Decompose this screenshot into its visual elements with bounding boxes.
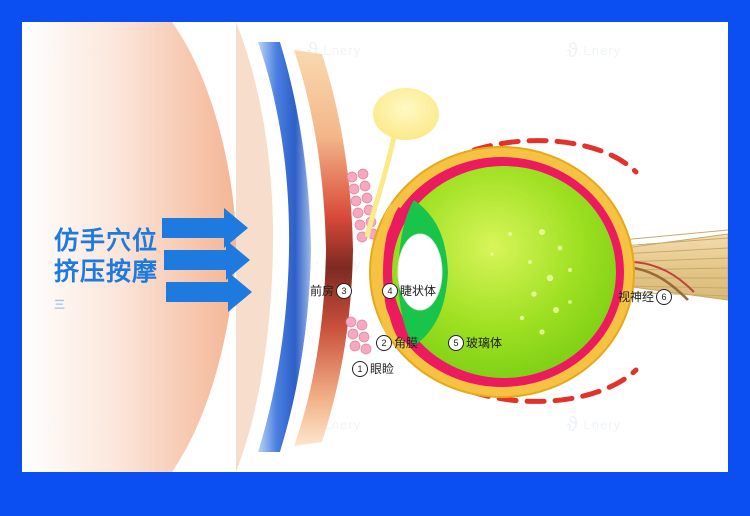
- page-frame: ϑ Lnery ϑ Lnery ϑ Lnery ϑ Lnery ϑ Lnery …: [0, 0, 750, 516]
- meibomian-glands-lower: [346, 317, 371, 354]
- callout-line-1: 仿手穴位: [54, 227, 158, 255]
- arrow-3: [166, 272, 252, 312]
- massage-direction-arrows: [162, 202, 272, 312]
- label-anterior-chamber-text: 前房: [310, 284, 334, 298]
- label-vitreous-body-number: 5: [448, 335, 464, 351]
- label-eyelid-number: 1: [352, 361, 368, 377]
- label-optic-nerve-number: 6: [656, 289, 672, 305]
- label-vitreous-body: 5玻璃体: [446, 334, 502, 351]
- diagram-canvas: ϑ Lnery ϑ Lnery ϑ Lnery ϑ Lnery ϑ Lnery …: [22, 22, 728, 472]
- label-eyelid-text: 眼睑: [370, 362, 394, 376]
- arrow-2: [164, 240, 250, 280]
- label-anterior-chamber: 前房3: [310, 282, 354, 299]
- label-ciliary-body: 4睫状体: [380, 282, 436, 299]
- label-anterior-chamber-number: 3: [336, 283, 352, 299]
- label-cornea-number: 2: [376, 335, 392, 351]
- lacrimal-gland: [373, 88, 439, 140]
- label-vitreous-body-text: 玻璃体: [466, 336, 502, 350]
- label-eyelid: 1眼睑: [350, 360, 394, 377]
- label-cornea-text: 角膜: [394, 336, 418, 350]
- arrow-1: [162, 208, 248, 248]
- label-cornea: 2角膜: [374, 334, 418, 351]
- label-ciliary-body-number: 4: [382, 283, 398, 299]
- label-optic-nerve-text: 视神经: [618, 290, 654, 304]
- label-optic-nerve: 视神经6: [618, 288, 674, 305]
- label-ciliary-body-text: 睫状体: [400, 284, 436, 298]
